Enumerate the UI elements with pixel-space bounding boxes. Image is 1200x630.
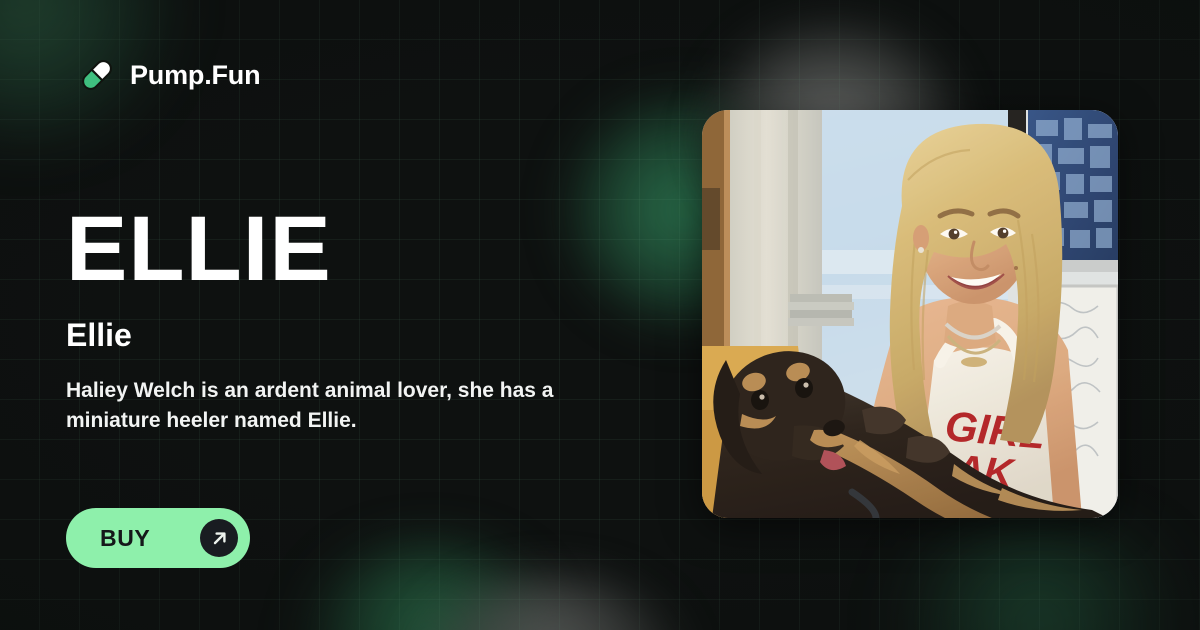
brand-name: Pump.Fun xyxy=(130,62,260,89)
token-image: Blonde woman in a white tank top with re… xyxy=(702,110,1118,518)
buy-button-label: BUY xyxy=(100,527,150,550)
page-root: Pump.Fun ELLIE Ellie Haliey Welch is an … xyxy=(0,0,1200,630)
page-subtitle: Ellie xyxy=(66,317,132,354)
brand-logo[interactable]: Pump.Fun xyxy=(78,56,260,94)
page-description: Haliey Welch is an ardent animal lover, … xyxy=(66,376,646,437)
arrow-up-right-icon xyxy=(200,519,238,557)
page-title: ELLIE xyxy=(66,203,332,295)
content-layer: Pump.Fun ELLIE Ellie Haliey Welch is an … xyxy=(0,0,1200,630)
buy-button[interactable]: BUY xyxy=(66,508,250,568)
pill-icon xyxy=(78,56,116,94)
